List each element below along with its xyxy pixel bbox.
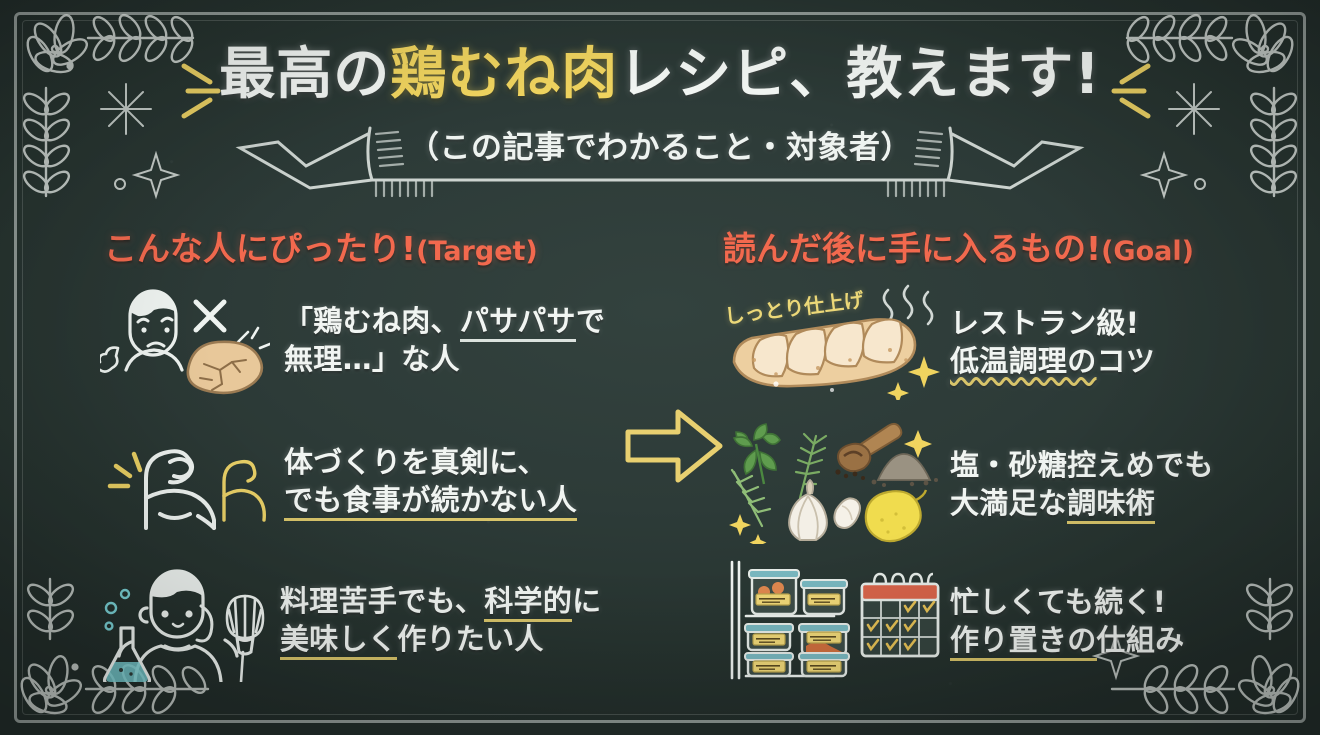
target-item-1-line2: 無理…」な人 [284,341,605,379]
subtitle-banner: （この記事でわかること・対象者） [0,122,1320,167]
target-item-2: 体づくりを真剣に、 でも食事が続かない人 [100,420,660,544]
target-item-2-underlined: でも食事が続かない人 [284,483,577,521]
goal-item-1-text: レストラン級! 低温調理のコツ [950,305,1155,380]
goal-item-1-line2b: コツ [1097,344,1156,378]
right-arrow-icon [622,404,726,488]
column-heading-goal: 読んだ後に手に入るもの!(Goal) [723,222,1194,270]
title-highlight: 鶏むね肉 [390,42,618,107]
target-item-1: 「鶏むね肉、パサパサで 無理…」な人 [100,278,660,404]
target-item-3-line2b: 作りたい人 [397,622,544,656]
goal-item-3-text: 忙しくても続く! 作り置きの仕組み [950,584,1184,659]
target-item-1-text: 「鶏むね肉、パサパサで 無理…」な人 [284,303,605,378]
chalkboard-canvas: 最高の鶏むね肉レシピ、教えます! （この記事でわかること・対象者） こんな人にぴ… [0,0,1320,735]
goal-item-1-underlined: 低温調理の [950,344,1097,378]
goal-item-1: しっとり仕上げ レストラン級! 低温調理のコツ [712,282,1312,404]
scientist-cook-icon [95,556,270,686]
subtitle-text: （この記事でわかること・対象者） [0,122,1320,167]
goal-item-2-line2a: 大満足な [950,486,1067,520]
target-item-2-text: 体づくりを真剣に、 でも食事が続かない人 [284,444,577,519]
goal-item-3-underlined: 作り置きの [950,623,1097,661]
goal-item-3-line2b: 仕組み [1097,623,1185,657]
goal-item-1-line1: レストラン級! [950,305,1155,343]
target-item-3-line1b: に [572,584,601,618]
goal-item-2-underlined: 調味術 [1067,486,1155,524]
goal-item-3: 忙しくても続く! 作り置きの仕組み [722,558,1320,686]
title-part-1: 最高の [219,42,390,107]
page-title: 最高の鶏むね肉レシピ、教えます! [0,46,1320,105]
target-item-3-underlined-1: 科学的 [484,584,572,622]
sad-person-dry-chicken-icon [100,278,270,404]
title-part-2: レシピ、教えます! [618,42,1101,107]
column-heading-target: こんな人にぴったり!(Target) [104,222,538,270]
sliced-chicken-breast-icon: しっとり仕上げ [712,282,944,404]
target-item-3-text: 料理苦手でも、科学的に 美味しく作りたい人 [280,583,601,658]
target-item-1-line1b: で [576,304,605,338]
herbs-spices-garlic-lemon-icon [712,422,944,548]
column-heading-target-en: (Target) [416,236,538,267]
meal-prep-containers-calendar-icon [722,558,944,686]
target-item-2-line1: 体づくりを真剣に、 [284,444,577,482]
goal-item-2-line1: 塩・砂糖控えめでも [950,447,1214,485]
column-heading-target-jp: こんな人にぴったり! [104,229,416,268]
target-item-1-underlined: パサパサ [460,304,576,342]
goal-item-2-text: 塩・砂糖控えめでも 大満足な調味術 [950,447,1214,522]
target-item-1-line1a: 「鶏むね肉、 [284,304,460,338]
flexing-arm-icon [100,420,270,544]
target-item-3-underlined-2: 美味しく [280,622,397,660]
goal-item-2: 塩・砂糖控えめでも 大満足な調味術 [712,422,1312,548]
column-heading-goal-jp: 読んだ後に手に入るもの! [723,229,1101,268]
column-heading-goal-en: (Goal) [1101,236,1194,267]
goal-item-3-line1: 忙しくても続く! [950,584,1184,622]
target-item-3: 料理苦手でも、科学的に 美味しく作りたい人 [95,556,665,686]
flask [105,628,150,682]
target-item-3-line1a: 料理苦手でも、 [280,584,484,618]
